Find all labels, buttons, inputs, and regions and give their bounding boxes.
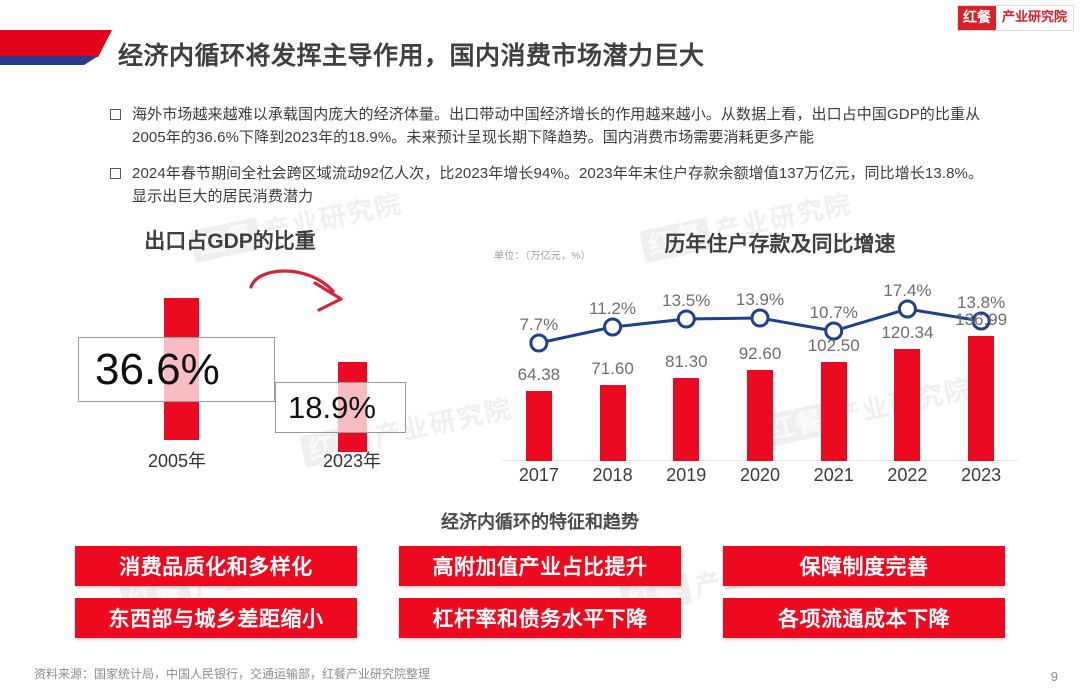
- export-share-infographic: 出口占GDP的比重 36.6% 2005年 18.9% 2023年: [60, 225, 480, 475]
- chart-bar-value-label: 64.38: [518, 365, 561, 385]
- chart-bar: [968, 336, 994, 461]
- banner-blue-band: [0, 56, 112, 65]
- year-label-2005: 2005年: [121, 447, 233, 473]
- chart-x-tick-label: 2021: [814, 465, 854, 486]
- brand-logo: 红餐 产业研究院: [957, 5, 1074, 31]
- chart-bar-value-label: 81.30: [665, 352, 708, 372]
- feature-tag-grid: 消费品质化和多样化高附加值产业占比提升保障制度完善东西部与城乡差距缩小杠杆率和债…: [75, 546, 1005, 638]
- header-banner-decoration: [0, 30, 112, 66]
- year-label-2023: 2023年: [296, 447, 408, 473]
- bottom-section-heading: 经济内循环的特征和趋势: [0, 508, 1080, 534]
- feature-tag[interactable]: 东西部与城乡差距缩小: [75, 598, 357, 638]
- feature-tag[interactable]: 高附加值产业占比提升: [399, 546, 681, 586]
- bullet-text: 海外市场越来越难以承载国内庞大的经济体量。出口带动中国经济增长的作用越来越小。从…: [132, 103, 990, 150]
- chart-column: 92.6013.9%: [724, 265, 796, 461]
- chart-bar-value-label: 71.60: [591, 359, 634, 379]
- bullet-text: 2024年春节期间全社会跨区域流动92亿人次，比2023年增长94%。2023年…: [132, 162, 990, 209]
- chart-line-value-label: 13.9%: [736, 290, 784, 310]
- value-2023: 18.9%: [288, 392, 376, 423]
- bar-2005-top: [164, 298, 199, 338]
- value-2005: 36.6%: [95, 348, 220, 392]
- chart-bar: [747, 370, 773, 461]
- chart-bar-value-label: 102.50: [808, 336, 860, 356]
- bar-2023-top: [338, 362, 367, 383]
- chart-bar-value-label: 136.99: [955, 310, 1007, 330]
- value-box-2005: 36.6%: [78, 337, 275, 402]
- chart-bar: [526, 391, 552, 461]
- slide-canvas: 红餐产业研究院 红餐产业研究院 红餐产业研究院 红餐产业研究院 红餐产业研究院 …: [0, 0, 1080, 696]
- square-bullet-icon: [110, 168, 121, 179]
- chart-column: 81.3013.5%: [650, 265, 722, 461]
- chart-line-value-label: 17.4%: [883, 281, 931, 301]
- chart-bar: [894, 349, 920, 461]
- list-item: 2024年春节期间全社会跨区域流动92亿人次，比2023年增长94%。2023年…: [110, 162, 990, 209]
- chart-x-tick-label: 2018: [593, 465, 633, 486]
- brand-logo-text: 产业研究院: [996, 6, 1073, 30]
- bullet-list: 海外市场越来越难以承载国内庞大的经济体量。出口带动中国经济增长的作用越来越小。从…: [110, 103, 990, 220]
- chart-x-axis: 2017201820192020202120222023: [502, 465, 1018, 489]
- chart-column: 64.387.7%: [503, 265, 575, 461]
- feature-tag[interactable]: 保障制度完善: [723, 546, 1005, 586]
- chart-column: 102.5010.7%: [798, 265, 870, 461]
- square-bullet-icon: [110, 109, 121, 120]
- chart-x-tick-label: 2020: [740, 465, 780, 486]
- chart-x-tick-label: 2019: [666, 465, 706, 486]
- chart-line-value-label: 13.5%: [662, 291, 710, 311]
- list-item: 海外市场越来越难以承载国内庞大的经济体量。出口带动中国经济增长的作用越来越小。从…: [110, 103, 990, 150]
- chart-x-tick-label: 2023: [961, 465, 1001, 486]
- chart-x-tick-label: 2022: [887, 465, 927, 486]
- right-chart-title: 历年住户存款及同比增速: [560, 228, 1000, 258]
- curved-down-right-arrow-icon: [245, 265, 375, 330]
- source-note: 资料来源：国家统计局，中国人民银行，交通运输部，红餐产业研究院整理: [34, 665, 430, 682]
- chart-bar-value-label: 92.60: [739, 344, 782, 364]
- feature-tag[interactable]: 消费品质化和多样化: [75, 546, 357, 586]
- feature-tag[interactable]: 杠杆率和债务水平下降: [399, 598, 681, 638]
- chart-column: 71.6011.2%: [577, 265, 649, 461]
- chart-line-value-label: 13.8%: [957, 293, 1005, 313]
- chart-bar: [600, 385, 626, 461]
- value-box-2023: 18.9%: [275, 382, 406, 433]
- brand-logo-mark: 红餐: [958, 6, 996, 30]
- chart-bar: [821, 362, 847, 461]
- page-number: 9: [1051, 669, 1058, 684]
- chart-line-value-label: 7.7%: [519, 315, 558, 335]
- chart-column: 120.3417.4%: [871, 265, 943, 461]
- chart-plot-area: 64.387.7%71.6011.2%81.3013.5%92.6013.9%1…: [502, 265, 1018, 461]
- household-deposits-chart: 单位：（万亿元，%） 历年住户存款及同比增速 64.387.7%71.6011.…: [490, 225, 1030, 490]
- left-chart-title: 出口占GDP的比重: [60, 225, 400, 255]
- chart-line-value-label: 11.2%: [589, 299, 636, 319]
- chart-bar-value-label: 120.34: [881, 323, 933, 343]
- page-title: 经济内循环将发挥主导作用，国内消费市场潜力巨大: [118, 36, 705, 72]
- chart-line-value-label: 10.7%: [810, 303, 858, 323]
- bar-2005-bottom: [164, 402, 199, 440]
- chart-x-tick-label: 2017: [519, 465, 559, 486]
- chart-column: 136.9913.8%: [945, 265, 1017, 461]
- banner-red-band: [0, 30, 112, 57]
- feature-tag[interactable]: 各项流通成本下降: [723, 598, 1005, 638]
- chart-bar: [673, 378, 699, 461]
